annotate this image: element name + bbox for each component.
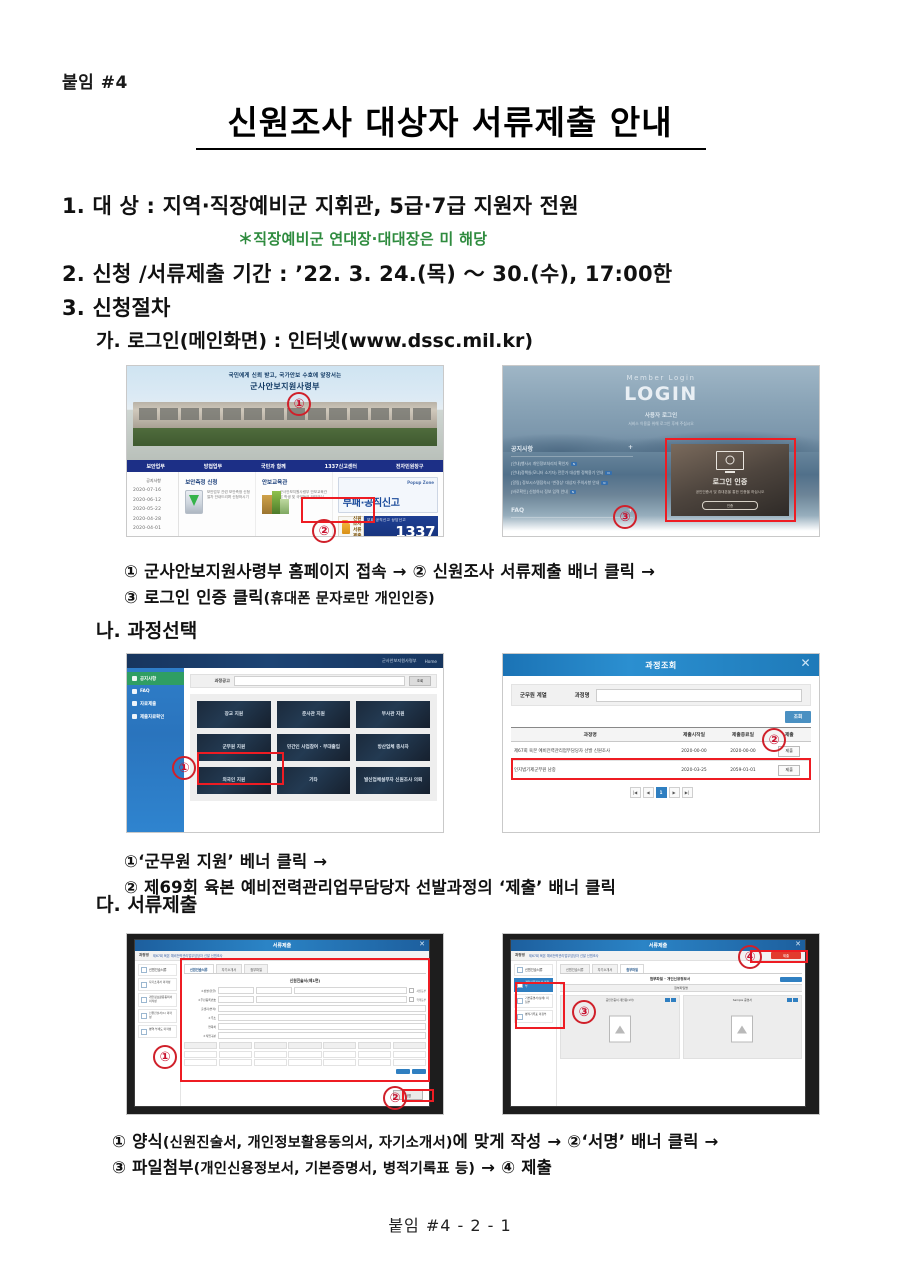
document-placeholder-icon (731, 1016, 753, 1043)
attachment-panel: 신원진술서류 자기소개서 첨부파일 첨부파일 - 개인신용정보서 첨부파일명 공… (557, 961, 805, 1106)
checkbox-icon[interactable] (409, 997, 415, 1003)
doc-checklist: 신원진술서류 자기소개서 미작성 개인정보활용동의서 미작성 신원진술서(1) … (135, 961, 181, 1106)
course-sidebar: 공지사항 FAQ 자료제출 제출자료확인 (127, 668, 184, 832)
marker-1-form: ① (153, 1045, 177, 1069)
form-fields: ＊성명(한글)사진등부 ＊주민등록번호학력등부 출생지(본적) ＊주소 연락처 … (184, 987, 426, 1039)
submit-banner-text: 신원조사 서류제출 (353, 517, 363, 536)
notice-panel-header: 공지사항+ (511, 444, 633, 457)
caption-step2-line2: ② 제69회 육본 예비전력관리업무담당자 선발과정의 ‘제출’ 배너 클릭 (124, 874, 616, 898)
sidebar-label: 자료제출 (140, 701, 156, 707)
window-titlebar: 서류제출 ✕ (135, 940, 429, 951)
doc-checklist: 신원진술서류 개인신용정보서 미첨부 기본증명서(상세) 미첨부 병적기록표 미… (511, 961, 557, 1106)
hero-line-1: 국민에게 신뢰 받고, 국가안보 수호에 앞장서는 (127, 371, 443, 379)
course-topbar: 군사안보지원사령부 Home (127, 654, 443, 668)
tab-statement[interactable]: 신원진술서류 (184, 964, 214, 973)
checkbox-icon[interactable] (517, 1014, 523, 1020)
pager-prev[interactable]: ◀ (643, 787, 654, 798)
field-row: ＊성명(한글)사진등부 (184, 987, 426, 994)
form-title: 신원진술서(제1면) (184, 978, 426, 984)
login-sub-2: 서비스 이용을 위해 로그인 후에 주십시오 (503, 421, 819, 427)
table-row[interactable] (184, 1051, 426, 1058)
checklist-label: 병역·부세도 미작성 (149, 1028, 171, 1032)
col-start-date: 제출시작일 (669, 728, 718, 742)
close-icon[interactable]: ✕ (800, 657, 811, 669)
screenshot-login: Member Login LOGIN 사용자 로그인 서비스 이용을 위해 로그… (503, 366, 819, 536)
list-icon (517, 967, 523, 973)
sidebar-label: FAQ (140, 689, 150, 694)
sidebar-item-notice[interactable]: 공지사항 (127, 672, 184, 685)
checkbox-icon[interactable] (141, 982, 147, 988)
submit-button[interactable]: 제출 (778, 765, 800, 776)
table-row[interactable]: 인지법기제군부원 남중 2020-03-25 2059-01-01 제출 (511, 761, 811, 780)
hero-line-2: 군사안보지원사령부 (127, 381, 443, 392)
card-title: 안보교육관 (262, 478, 328, 486)
rrn-back-input[interactable] (256, 996, 407, 1003)
caption-step3-line1: ① 양식(신원진술서, 개인정보활용동의서, 자기소개서)에 맞게 작성 → ②… (112, 1128, 719, 1152)
homepage-hero: 국민에게 신뢰 받고, 국가안보 수호에 앞장서는 군사안보지원사령부 (127, 366, 443, 460)
tile-foreigner[interactable]: 외국인 지원 (197, 767, 271, 794)
sidebar-label: 공지사항 (140, 676, 156, 682)
notice-row[interactable]: [안내]행사시 개인정보처리지 확인자N (511, 461, 633, 467)
building-windows (133, 408, 437, 420)
tab-attachments[interactable]: 첨부파일 (244, 964, 268, 973)
table-action-buttons[interactable] (184, 1069, 426, 1074)
tab-self-intro[interactable]: 자기소개서 (592, 964, 619, 973)
screenshot-attachments: 서류제출 ✕ 과정명 제67회 육본 예비전력관리업무담당자 선발 신원조사 제… (503, 934, 819, 1114)
notice-date[interactable]: 2020-06-12 (133, 498, 174, 503)
submit-button[interactable]: 제출 (771, 952, 801, 959)
check-icon (132, 714, 137, 719)
login-heading: Member Login LOGIN (503, 374, 819, 405)
homepage-navbar[interactable]: 보안업무 방첩업무 국민과 함께 1337신고센터 전자민원창구 (127, 460, 443, 472)
checkbox-icon[interactable] (409, 988, 415, 994)
notice-date[interactable]: 2020-04-01 (133, 526, 174, 531)
window-title: 서류제출 (273, 942, 291, 949)
cell-submit[interactable]: 제출 (767, 761, 811, 780)
hotline-1337-banner[interactable]: 부패·공직신고 상담신고 1337 (364, 516, 438, 536)
login-certificate-card[interactable]: 로그인 인증 공인인증서 및 휴대폰을 통한 인증을 하십시오 인증 (671, 444, 789, 516)
job-type-input[interactable] (218, 1032, 426, 1039)
nav-item-1[interactable]: 방첩업무 (204, 463, 222, 470)
submit-banner-line1: 신원조사 (353, 517, 361, 528)
checkbox-icon[interactable] (517, 998, 523, 1004)
course-tile-grid: 장교 지원 준사관 지원 부사관 지원 군무원 지원 민간인 사업참여 · 부대… (190, 694, 437, 801)
caption-step3-b: 에 맞게 작성 → ②‘서명’ 배너 클릭 → (453, 1132, 719, 1151)
login-subheading: 사용자 로그인 서비스 이용을 위해 로그인 후에 주십시오 (503, 411, 819, 427)
zoom-in-icon (665, 998, 670, 1002)
list-item-3: 3. 신청절차 (62, 292, 171, 322)
search-button[interactable]: 조회 (409, 676, 431, 686)
nav-item-3[interactable]: 1337신고센터 (325, 463, 357, 470)
field-row: ＊직업구분 (184, 1032, 426, 1039)
caption-step1-paren: (휴대폰 문자로만 개인인증) (264, 591, 435, 607)
new-badge: N (605, 471, 611, 475)
course-value: 제67회 육본 예비전력관리업무담당자 선발 신원조사 (529, 953, 767, 958)
marker-1-homepage: ① (287, 392, 311, 416)
notice-icon (132, 676, 137, 681)
cell-end-date: 2020-00-00 (718, 742, 767, 761)
preview-box[interactable]: Sample 증명서 (683, 995, 803, 1059)
notice-text: [안내]정책실(모니터 소기자) 전문가 대상행 정책용기 안내 (511, 470, 603, 476)
notice-text: [알림] 정보시스템접속시 ‘변경상’ 대상자 주의사항 안내 (511, 480, 599, 486)
app-columns: 신원진술서류 개인신용정보서 미첨부 기본증명서(상세) 미첨부 병적기록표 미… (511, 961, 805, 1106)
add-file-button[interactable] (780, 977, 802, 982)
notice-date[interactable]: 2020-04-28 (133, 517, 174, 522)
marker-2-homepage: ② (312, 519, 336, 543)
marker-1-course-select: ① (172, 756, 196, 780)
marker-2-form: ② (383, 1086, 407, 1110)
card-title: 로그인 인증 (713, 477, 748, 487)
attachment-column-header: 첨부파일명 (560, 984, 802, 992)
tile-civilian-military-employee[interactable]: 군무원 지원 (197, 734, 271, 761)
tab-statement[interactable]: 신원진술서류 (560, 964, 590, 973)
topbar-home-link[interactable]: Home (425, 659, 437, 664)
nav-item-0[interactable]: 보안업무 (146, 463, 164, 470)
tile-nco[interactable]: 부사관 지원 (356, 701, 430, 728)
tile-defense-industry[interactable]: 방산업체 종사자 (356, 734, 430, 761)
checklist-label: 개인신용정보서 미첨부 (525, 981, 550, 989)
caption-step1-line2: ③ 로그인 인증 클릭(휴대폰 문자로만 개인인증) (124, 584, 435, 608)
list-item-1: 1. 대 상 : 지역·직장예비군 지휘관, 5급·7급 지원자 전원 (62, 190, 579, 220)
field-label: 출생지(본적) (184, 1007, 216, 1011)
window-titlebar: 서류제출 ✕ (511, 940, 805, 951)
caption-step3-paren2: (개인신용정보서, 기본증명서, 병적기록표 등) (194, 1161, 476, 1177)
submit-banner-line2: 서류제출 (353, 528, 361, 536)
screenshot-course-select: 군사안보지원사령부 Home 공지사항 FAQ 자료제출 제출자료확인 과정공고… (127, 654, 443, 832)
card-desc: 보안업무 관련 보안측정 신청절차 안내드리며 신청하시기 (207, 490, 251, 501)
checklist-item[interactable]: 신원진술서(1) 미작성 (138, 1009, 177, 1023)
homepage-body: 공지사항 2020-07-16 2020-06-12 2020-05-22 20… (127, 472, 443, 536)
checkbox-icon[interactable] (141, 1029, 147, 1035)
checkbox-label: 학력등부 (416, 998, 426, 1002)
caption-step1-line1: ① 군사안보지원사령부 홈페이지 접속 → ② 신원조사 서류제출 배너 클릭 … (124, 558, 655, 582)
course-name-input[interactable] (596, 689, 802, 702)
search-input[interactable] (234, 676, 405, 686)
pager-next[interactable]: ▶ (669, 787, 680, 798)
tab-self-intro[interactable]: 자기소개서 (216, 964, 243, 973)
field-row: 출생지(본적) (184, 1005, 426, 1012)
attachment-header: 첨부파일 - 개인신용정보서 (560, 977, 802, 982)
document-placeholder-icon (609, 1016, 631, 1043)
hanja-input[interactable] (256, 987, 292, 994)
submit-documents-banner[interactable]: 신원조사 서류제출 (338, 516, 364, 536)
marker-4-attachments: ④ (738, 945, 762, 969)
attachment-preview-zone: 공인인증서 개인용(1차) Sample 증명서 (560, 995, 802, 1059)
app-columns: 신원진술서류 자기소개서 미작성 개인정보활용동의서 미작성 신원진술서(1) … (135, 961, 429, 1106)
eng-input[interactable] (294, 987, 407, 994)
new-badge: N (601, 481, 607, 485)
list-item-3a: 가. 로그인(메인화면) : 인터넷(www.dssc.mil.kr) (96, 326, 533, 353)
marker-3-login: ③ (613, 505, 637, 529)
marker-2-course-dialog: ② (762, 728, 786, 752)
checklist-title: 신원진술서류 (149, 967, 167, 972)
download-box-icon (185, 490, 203, 514)
title-underline (196, 148, 706, 150)
field-label: ＊성명(한글) (184, 989, 216, 993)
name-input[interactable] (218, 987, 254, 994)
marker-3-attachments: ③ (572, 1000, 596, 1024)
sidebar-item-verify[interactable]: 제출자료확인 (127, 710, 184, 723)
close-icon[interactable]: ✕ (419, 940, 425, 948)
notice-row[interactable]: [알림] 정보시스템접속시 ‘변경상’ 대상자 주의사항 안내N (511, 480, 633, 486)
education-building-icon (262, 490, 276, 514)
caption-step3-paren1: (신원진술서, 개인정보활용동의서, 자기소개서) (163, 1135, 453, 1151)
attachment-tag: 붙임 #4 (62, 68, 128, 93)
form-tabs[interactable]: 신원진술서류 자기소개서 첨부파일 (560, 964, 802, 974)
card-desc: 공인인증서 및 휴대폰을 통한 인증을 하십시오 (696, 490, 765, 495)
filter-label-course: 과정명 (575, 691, 590, 699)
sidebar-label: 제출자료확인 (140, 714, 164, 720)
member-login-label: Member Login (503, 374, 819, 382)
course-label: 과정명 (515, 953, 525, 958)
notice-text: [안내]행사시 개인정보처리지 확인자 (511, 461, 569, 467)
sidebar-item-faq[interactable]: FAQ (127, 685, 184, 697)
page-title: 신원조사 대상자 서류제출 안내 (0, 96, 900, 144)
cert-auth-button[interactable]: 인증 (702, 501, 758, 510)
zoom-in-icon (787, 998, 792, 1002)
cell-end-date: 2059-01-01 (718, 761, 767, 780)
tile-officer[interactable]: 장교 지원 (197, 701, 271, 728)
address-input[interactable] (218, 1014, 426, 1021)
login-notice-panel: 공지사항+ [안내]행사시 개인정보처리지 확인자N [안내]정책실(모니터 소… (511, 444, 633, 518)
col-end-date: 제출종료일 (718, 728, 767, 742)
tile-etc[interactable]: 기타 (277, 767, 351, 794)
tile-facility-worker[interactable]: 발신업체설무자 신원조사 의뢰 (356, 767, 430, 794)
pager-first[interactable]: |◀ (630, 787, 641, 798)
card-title: 보안측정 신청 (185, 478, 251, 486)
popup-zone-label: Popup Zone (407, 480, 434, 485)
notice-text: [바로확인] 신청하시 정보 입력 안내 (511, 489, 568, 495)
tile-civilian-project[interactable]: 민간인 사업참여 · 부대출입 (277, 734, 351, 761)
homepage-hero-text: 국민에게 신뢰 받고, 국가안보 수호에 앞장서는 군사안보지원사령부 (127, 371, 443, 392)
course-label: 과정명 (139, 953, 149, 958)
table-pager[interactable]: |◀ ◀ 1 ▶ ▶| (511, 787, 811, 798)
notice-panel-title: 공지사항 (511, 444, 533, 453)
zoom-out-icon (671, 998, 676, 1002)
field-label: ＊직업구분 (184, 1034, 216, 1038)
folder-icon (342, 523, 350, 534)
rrn-front-input[interactable] (218, 996, 254, 1003)
login-sub-1: 사용자 로그인 (503, 411, 819, 419)
checklist-label: 신원진술서(1) 미작성 (149, 1012, 174, 1020)
window-title: 서류제출 (649, 942, 667, 949)
dialog-titlebar: 과정조회 ✕ (503, 654, 819, 676)
form-tabs[interactable]: 신원진술서류 자기소개서 첨부파일 (184, 964, 426, 974)
checklist-item[interactable]: 병역·부세도 미작성 (138, 1025, 177, 1038)
login-wordmark: LOGIN (503, 383, 819, 405)
filter-label-series: 군무원 계열 (520, 691, 547, 699)
pager-page-1[interactable]: 1 (656, 787, 667, 798)
banner-zone: Popup Zone 부패·공직신고 신원조사 서류제출 부패·공직신고 상담신… (333, 472, 443, 536)
checklist-item-selected[interactable]: 개인신용정보서 미첨부 (514, 978, 553, 992)
checklist-item[interactable]: 병적기록표 미첨부 (514, 1010, 553, 1023)
sidebar-item-submit[interactable]: 자료제출 (127, 697, 184, 710)
list-item-1-note: ＊직장예비군 연대장·대대장은 미 해당 (238, 228, 487, 249)
contact-input[interactable] (218, 1023, 426, 1030)
search-label: 과정공고 (196, 678, 230, 684)
preview-controls[interactable] (787, 998, 798, 1002)
add-row-button[interactable] (396, 1069, 410, 1074)
cell-start-date: 2020-03-25 (669, 761, 718, 780)
plus-icon[interactable]: + (628, 444, 633, 453)
pager-last[interactable]: ▶| (682, 787, 693, 798)
popup-zone-banner[interactable]: Popup Zone 부패·공직신고 (338, 477, 438, 513)
field-label: ＊주소 (184, 1016, 216, 1020)
preview-controls[interactable] (665, 998, 676, 1002)
birthplace-input[interactable] (218, 1005, 426, 1012)
new-badge: N (571, 462, 577, 466)
screenshot-homepage: 국민에게 신뢰 받고, 국가안보 수호에 앞장서는 군사안보지원사령부 보안업무… (127, 366, 443, 536)
checkbox-icon[interactable] (141, 997, 147, 1003)
list-item-3b: 나. 과정선택 (96, 616, 197, 643)
checklist-label: 병적기록표 미첨부 (525, 1013, 546, 1017)
checklist-item[interactable]: 개인정보활용동의서 미작성 (138, 993, 177, 1007)
app-window: 서류제출 ✕ 과정명 제67회 육본 예비전력관리업무담당자 선발 신원조사 제… (511, 940, 805, 1106)
card-security-measure[interactable]: 보안측정 신청 보안업무 관련 보안측정 신청절차 안내드리며 신청하시기 (179, 472, 256, 536)
upload-icon (132, 701, 137, 706)
education-table-header (184, 1042, 426, 1049)
dialog-body: 군무원 계열 과정명 조회 과정명 제출시작일 제출종료일 제출 (503, 676, 819, 832)
dialog-title: 과정조회 (645, 660, 676, 671)
page-footer: 붙임 #4 - 2 - 1 (0, 1212, 900, 1236)
list-icon (141, 967, 147, 973)
col-course-name: 과정명 (511, 728, 669, 742)
caption-step3-c: ③ 파일첨부 (112, 1158, 194, 1177)
app-window: 서류제출 ✕ 과정명 제67회 육본 예비전력관리업무담당자 선발 신원조사 신… (135, 940, 429, 1106)
cell-start-date: 2020-00-00 (669, 742, 718, 761)
close-icon[interactable]: ✕ (795, 940, 801, 948)
field-label: ＊주민등록번호 (184, 998, 216, 1002)
caption-step1-main: ③ 로그인 인증 클릭 (124, 588, 264, 607)
banner-bottom-row: 신원조사 서류제출 부패·공직신고 상담신고 1337 (338, 516, 438, 536)
notice-list[interactable]: 공지사항 2020-07-16 2020-06-12 2020-05-22 20… (127, 472, 179, 536)
notice-row[interactable]: [바로확인] 신청하시 정보 입력 안내N (511, 489, 633, 495)
dialog-search-button[interactable]: 조회 (785, 711, 811, 723)
faq-icon (132, 689, 137, 694)
building-photo (133, 402, 437, 446)
preview-caption: Sample 증명서 (684, 998, 802, 1002)
course-main: 과정공고 조회 장교 지원 준사관 지원 부사관 지원 군무원 지원 민간인 사… (184, 668, 443, 832)
checklist-item[interactable]: 기본증명서(상세) 미첨부 (514, 994, 553, 1008)
field-row: ＊주소 (184, 1014, 426, 1021)
notice-date[interactable]: 2020-07-16 (133, 488, 174, 493)
tab-attachments[interactable]: 첨부파일 (620, 964, 644, 973)
notice-date[interactable]: 2020-05-22 (133, 507, 174, 512)
caption-step3-a: ① 양식 (112, 1132, 163, 1151)
form-panel: 신원진술서류 자기소개서 첨부파일 신원진술서(제1면) ＊성명(한글)사진등부… (181, 961, 429, 1106)
dialog-filter-row: 군무원 계열 과정명 (511, 684, 811, 706)
checklist-label: 자기소개서 미작성 (149, 981, 170, 985)
caption-step2-line1: ①‘군무원 지원’ 베너 클릭 → (124, 848, 327, 872)
topbar-org: 군사안보지원사령부 (382, 658, 417, 664)
field-label: 연락처 (184, 1025, 216, 1029)
corruption-report-text: 부패·공직신고 (343, 494, 400, 509)
notice-row[interactable]: [안내]정책실(모니터 소기자) 전문가 대상행 정책용기 안내N (511, 470, 633, 476)
dialog-search-row: 조회 (511, 711, 811, 723)
caption-step3-line2: ③ 파일첨부(개인신용정보서, 기본증명서, 병적기록표 등) → ④ 제출 (112, 1154, 552, 1178)
tile-warrant-officer[interactable]: 준사관 지원 (277, 701, 351, 728)
notice-header: 공지사항 (133, 478, 174, 484)
panel-title: 첨부파일 - 개인신용정보서 (560, 977, 780, 982)
checkbox-icon[interactable] (517, 982, 523, 988)
cell-course-name: 제67회 육본 예비전력관리업무담당자 선발 신원조사 (511, 742, 669, 761)
checklist-label: 개인정보활용동의서 미작성 (149, 996, 174, 1004)
list-item-2: 2. 신청 /서류제출 기간 : ’22. 3. 24.(목) ～ 30.(수)… (62, 258, 672, 288)
course-search-bar: 과정공고 조회 (190, 674, 437, 688)
checklist-label: 기본증명서(상세) 미첨부 (525, 997, 550, 1005)
checklist-title: 신원진술서류 (525, 967, 543, 972)
document-page: 붙임 #4 신원조사 대상자 서류제출 안내 1. 대 상 : 지역·직장예비군… (0, 0, 900, 1272)
checklist-header: 신원진술서류 (138, 964, 177, 976)
field-row: 연락처 (184, 1023, 426, 1030)
table-row[interactable] (184, 1059, 426, 1066)
checkbox-label: 사진등부 (416, 989, 426, 993)
hotline-number: 1337 (395, 525, 435, 536)
course-subbar: 과정명 제67회 육본 예비전력관리업무담당자 선발 신원조사 (135, 951, 429, 961)
field-row: ＊주민등록번호학력등부 (184, 996, 426, 1003)
nav-item-4[interactable]: 전자민원창구 (396, 463, 424, 470)
delete-row-button[interactable] (412, 1069, 426, 1074)
checklist-header: 신원진술서류 (514, 964, 553, 976)
zoom-out-icon (793, 998, 798, 1002)
tree-row (133, 428, 437, 446)
nav-item-2[interactable]: 국민과 함께 (261, 463, 286, 470)
faq-label: FAQ (511, 507, 524, 514)
course-value: 제67회 육본 예비전력관리업무담당자 선발 신원조사 (153, 953, 425, 958)
cell-course-name: 인지법기제군부원 남중 (511, 761, 669, 780)
caption-step3-d: → ④ 제출 (475, 1158, 552, 1177)
checkbox-icon[interactable] (141, 1013, 147, 1019)
new-badge: N (570, 490, 576, 494)
checklist-item[interactable]: 자기소개서 미작성 (138, 978, 177, 991)
monitor-icon (716, 451, 744, 470)
